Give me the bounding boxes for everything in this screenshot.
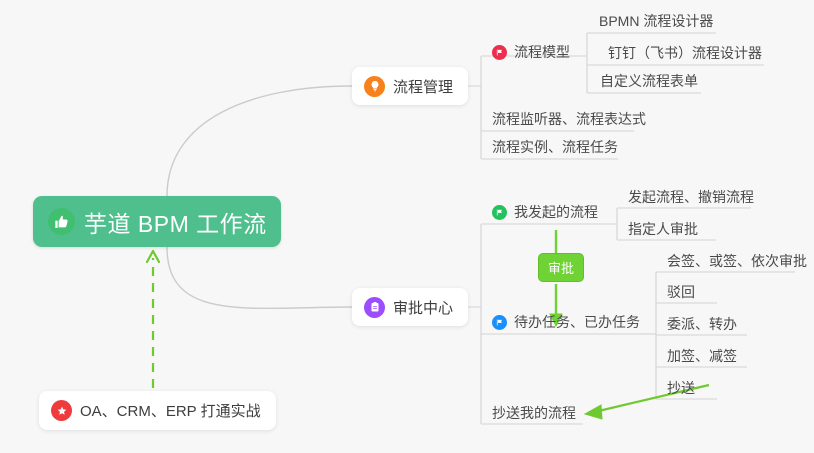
topic-add-remove-sign[interactable]: 加签、减签	[667, 346, 737, 369]
topic-cc[interactable]: 抄送	[667, 378, 695, 401]
topic-label-reject: 驳回	[667, 282, 695, 302]
mindmap-canvas: 芋道 BPM 工作流 流程管理 流程模型 BPMN 流程设计器 钉钉（飞书）流程…	[0, 0, 814, 453]
arrow-integration-to-root-head	[147, 251, 159, 262]
topic-assignee-approval[interactable]: 指定人审批	[628, 219, 698, 242]
clipboard-icon	[364, 297, 385, 318]
topic-todo-done-tasks[interactable]: 待办任务、已办任务	[492, 312, 640, 335]
edge-root-to-approval-center	[167, 247, 352, 308]
topic-countersign-orsign-sequential[interactable]: 会签、或签、依次审批	[667, 251, 807, 274]
branch-node-approval-center[interactable]: 审批中心	[352, 288, 468, 326]
topic-process-model[interactable]: 流程模型	[492, 42, 570, 65]
floating-node-integration-practice[interactable]: OA、CRM、ERP 打通实战	[39, 391, 276, 430]
topic-label-todo-done-tasks: 待办任务、已办任务	[514, 312, 640, 332]
thumbs-up-icon	[48, 208, 75, 235]
topic-dingtalk-feishu-designer[interactable]: 钉钉（飞书）流程设计器	[608, 43, 762, 66]
topic-delegate-transfer[interactable]: 委派、转办	[667, 314, 737, 337]
topic-bpmn-designer[interactable]: BPMN 流程设计器	[599, 11, 713, 34]
topic-start-cancel-process[interactable]: 发起流程、撤销流程	[628, 187, 754, 210]
arrow-cc-to-cc-to-me-head	[585, 405, 602, 419]
topic-label-my-initiated-process: 我发起的流程	[514, 202, 598, 222]
blue-flag-icon	[492, 315, 507, 330]
topic-label-process-instance-task: 流程实例、流程任务	[492, 137, 618, 157]
topic-custom-process-form[interactable]: 自定义流程表单	[600, 71, 698, 94]
red-flag-icon	[492, 45, 507, 60]
edge-root-to-process-management	[167, 86, 352, 196]
topic-label-dingtalk-feishu-designer: 钉钉（飞书）流程设计器	[608, 43, 762, 63]
root-node-label: 芋道 BPM 工作流	[84, 205, 267, 239]
arrow-label-approve: 审批	[538, 253, 584, 282]
lightbulb-icon	[364, 76, 385, 97]
topic-label-start-cancel-process: 发起流程、撤销流程	[628, 187, 754, 207]
root-node[interactable]: 芋道 BPM 工作流	[33, 196, 281, 247]
topic-reject[interactable]: 驳回	[667, 282, 695, 305]
floating-label-integration-practice: OA、CRM、ERP 打通实战	[80, 400, 261, 421]
topic-label-delegate-transfer: 委派、转办	[667, 314, 737, 334]
topic-label-countersign-orsign-sequential: 会签、或签、依次审批	[667, 251, 807, 271]
red-star-icon	[51, 400, 72, 421]
topic-label-assignee-approval: 指定人审批	[628, 219, 698, 239]
topic-cc-to-me-process[interactable]: 抄送我的流程	[492, 403, 576, 426]
branch-label-process-management: 流程管理	[393, 76, 453, 97]
topic-label-process-model: 流程模型	[514, 42, 570, 62]
topic-process-instance-task[interactable]: 流程实例、流程任务	[492, 137, 618, 160]
topic-label-process-listener-expression: 流程监听器、流程表达式	[492, 109, 646, 129]
topic-label-bpmn-designer: BPMN 流程设计器	[599, 11, 713, 31]
topic-my-initiated-process[interactable]: 我发起的流程	[492, 202, 598, 225]
topic-process-listener-expression[interactable]: 流程监听器、流程表达式	[492, 109, 646, 132]
branch-label-approval-center: 审批中心	[393, 297, 453, 318]
topic-label-cc: 抄送	[667, 378, 695, 398]
topic-label-custom-process-form: 自定义流程表单	[600, 71, 698, 91]
branch-node-process-management[interactable]: 流程管理	[352, 67, 468, 105]
topic-label-cc-to-me-process: 抄送我的流程	[492, 403, 576, 423]
green-flag-icon	[492, 205, 507, 220]
topic-label-add-remove-sign: 加签、减签	[667, 346, 737, 366]
